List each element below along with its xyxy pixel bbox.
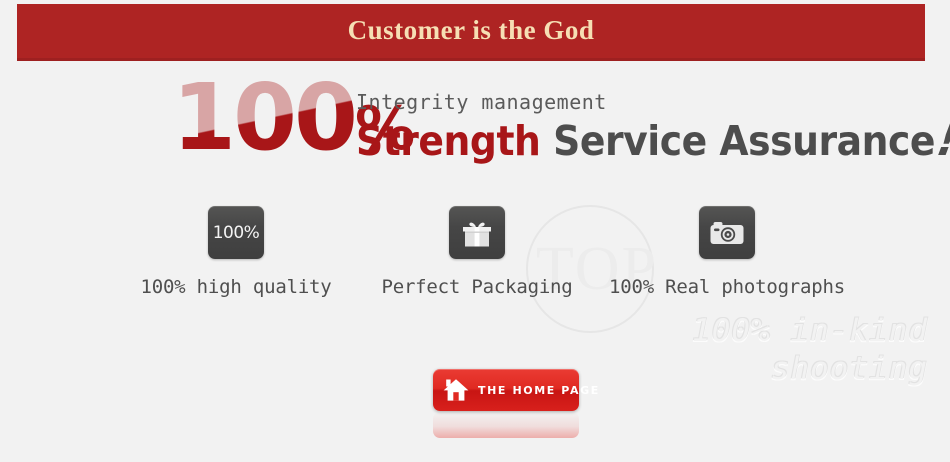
home-page-button[interactable]: THE HOME PAGE xyxy=(433,369,579,411)
hero-subtitle: Integrity management xyxy=(356,92,607,112)
gift-box-icon xyxy=(460,216,494,250)
hero-headline: Strength Service Assurance! xyxy=(356,116,950,162)
watermark-tagline-line1: 100% in-kind xyxy=(598,312,928,350)
hero-headline-assurance: Service Assurance xyxy=(553,117,935,165)
feature-item-quality: 100% 100% high quality xyxy=(100,206,372,299)
feature-label-photos: 100% Real photographs xyxy=(582,276,872,299)
home-button-wrapper: THE HOME PAGE xyxy=(433,369,579,438)
gift-box-tile xyxy=(449,206,505,259)
camera-icon xyxy=(709,218,745,248)
watermark-tagline-line2: shooting xyxy=(598,350,928,388)
percent-badge-icon: 100% xyxy=(208,206,264,259)
feature-item-packaging: Perfect Packaging xyxy=(372,206,582,299)
watermark-tagline: 100% in-kind shooting xyxy=(598,312,928,388)
hero-section: 100% Integrity management Strength Servi… xyxy=(0,76,950,186)
header-banner: Customer is the God xyxy=(17,4,925,61)
promo-banner-page: Customer is the God TOP 100% Integrity m… xyxy=(0,0,950,462)
percent-badge-label: 100% xyxy=(208,223,264,243)
hero-percent-number: 100 xyxy=(172,64,355,171)
house-icon xyxy=(443,378,469,402)
home-button-label: THE HOME PAGE xyxy=(478,384,600,397)
feature-item-photos: 100% Real photographs xyxy=(582,206,872,299)
home-button-reflection xyxy=(433,412,579,438)
hero-headline-exclamation: ! xyxy=(934,116,950,162)
feature-label-quality: 100% high quality xyxy=(100,276,372,299)
hero-headline-strength: Strength xyxy=(356,117,540,165)
banner-title: Customer is the God xyxy=(348,17,595,44)
camera-tile xyxy=(699,206,755,259)
feature-label-packaging: Perfect Packaging xyxy=(372,276,582,299)
